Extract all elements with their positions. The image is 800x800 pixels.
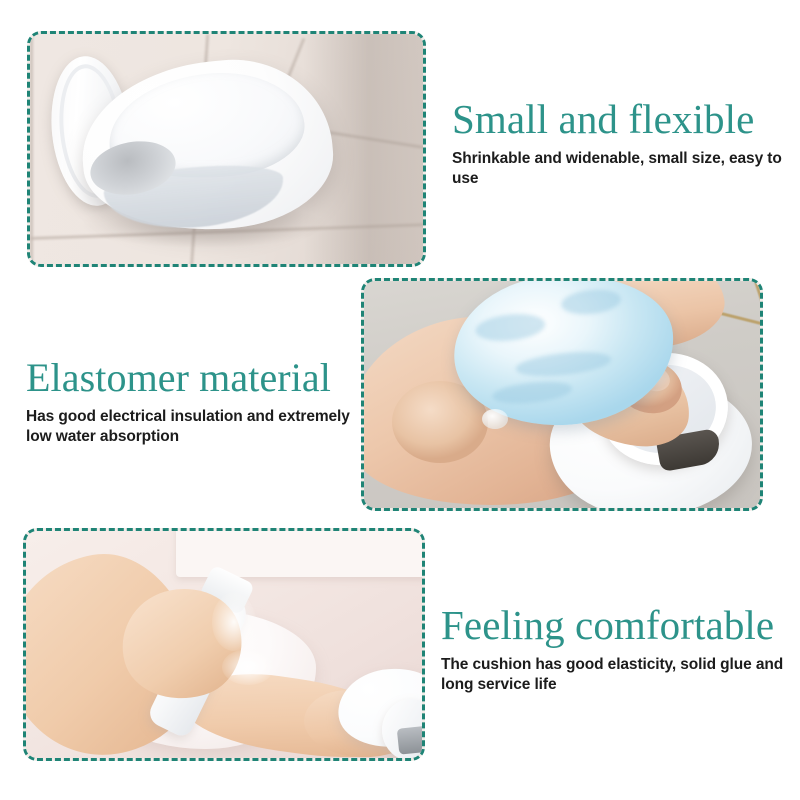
shaving-foam: [222, 649, 274, 685]
grout-line: [30, 34, 33, 264]
photo-shaving-leg-on-step: [26, 531, 422, 758]
product-infographic: Small and flexible Shrinkable and widena…: [0, 0, 800, 800]
shaving-foam: [212, 593, 256, 651]
feature-headline: Elastomer material: [26, 357, 366, 399]
feature-text-small-and-flexible: Small and flexible Shrinkable and widena…: [452, 98, 782, 189]
feature-headline: Small and flexible: [452, 98, 782, 141]
feature-subtext: Shrinkable and widenable, small size, ea…: [452, 149, 782, 189]
feature-subtext: Has good electrical insulation and extre…: [26, 407, 366, 447]
photo-foot-rest-on-tile: [30, 34, 423, 264]
suction-lever: [397, 725, 422, 754]
photo-foot-with-loofah: [364, 281, 760, 508]
loofah-fold: [474, 311, 546, 344]
soap-foam-drip: [482, 409, 508, 429]
loofah-fold: [491, 378, 573, 406]
loofah-fold: [515, 348, 613, 380]
feature-photo-feeling-comfortable: [23, 528, 425, 761]
feature-text-elastomer-material: Elastomer material Has good electrical i…: [26, 357, 366, 447]
feature-text-feeling-comfortable: Feeling comfortable The cushion has good…: [441, 604, 786, 695]
feature-photo-small-and-flexible: [27, 31, 426, 267]
feature-photo-elastomer-material: [361, 278, 763, 511]
feature-subtext: The cushion has good elasticity, solid g…: [441, 655, 786, 695]
loofah-fold: [560, 287, 622, 317]
feature-headline: Feeling comfortable: [441, 604, 786, 647]
